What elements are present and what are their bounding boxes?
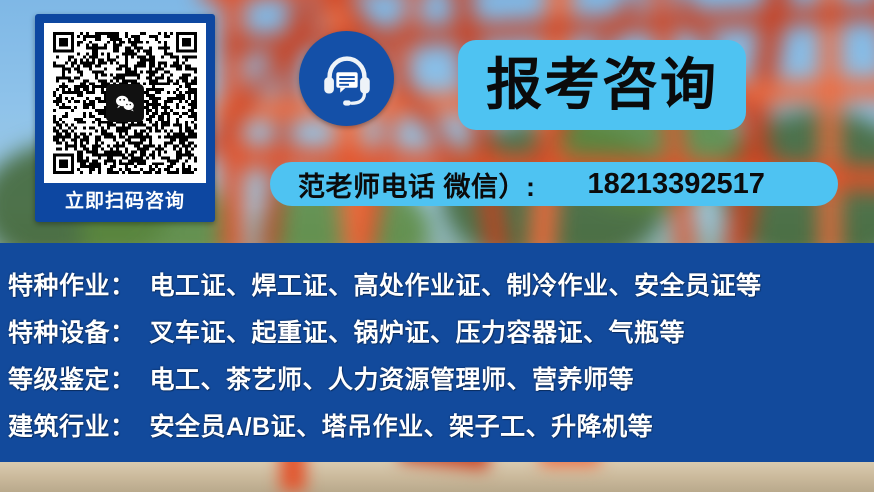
wechat-icon [106, 84, 144, 122]
service-row: 特种作业：电工证、焊工证、高处作业证、制冷作业、安全员证等 [8, 266, 762, 302]
service-items-text: 电工、茶艺师、人力资源管理师、营养师等 [150, 366, 635, 394]
qr-code-image[interactable] [44, 23, 206, 183]
bottom-photo-strip [0, 462, 874, 492]
service-row: 建筑行业：安全员A/B证、塔吊作业、架子工、升降机等 [8, 407, 653, 443]
qr-code-card[interactable]: 立即扫码咨询 [35, 14, 215, 222]
service-category-label: 特种作业： [8, 272, 136, 300]
bottom-strip-blur [0, 462, 874, 492]
service-row: 等级鉴定：电工、茶艺师、人力资源管理师、营养师等 [8, 360, 634, 396]
service-category-label: 等级鉴定： [8, 366, 136, 394]
promo-poster: 立即扫码咨询 报考咨询 范老师电话 微信）: 18213392517 [0, 0, 874, 492]
main-title-badge: 报考咨询 [458, 40, 746, 130]
service-category-label: 建筑行业： [8, 413, 136, 441]
page-title: 报考咨询 [486, 57, 718, 113]
headset-support-icon [299, 31, 394, 126]
service-items-text: 叉车证、起重证、锅炉证、压力容器证、气瓶等 [150, 319, 686, 347]
service-category-label: 特种设备： [8, 319, 136, 347]
qr-card-caption: 立即扫码咨询 [35, 186, 215, 213]
service-row: 特种设备：叉车证、起重证、锅炉证、压力容器证、气瓶等 [8, 313, 685, 349]
service-items-text: 安全员A/B证、塔吊作业、架子工、升降机等 [150, 413, 654, 441]
service-items-text: 电工证、焊工证、高处作业证、制冷作业、安全员证等 [150, 272, 762, 300]
contact-phone-number[interactable]: 18213392517 [588, 168, 765, 201]
contact-label: 范老师电话 微信）: [298, 165, 536, 204]
services-panel: 特种作业：电工证、焊工证、高处作业证、制冷作业、安全员证等 特种设备：叉车证、起… [0, 243, 874, 462]
contact-bar[interactable]: 范老师电话 微信）: 18213392517 [270, 162, 838, 206]
